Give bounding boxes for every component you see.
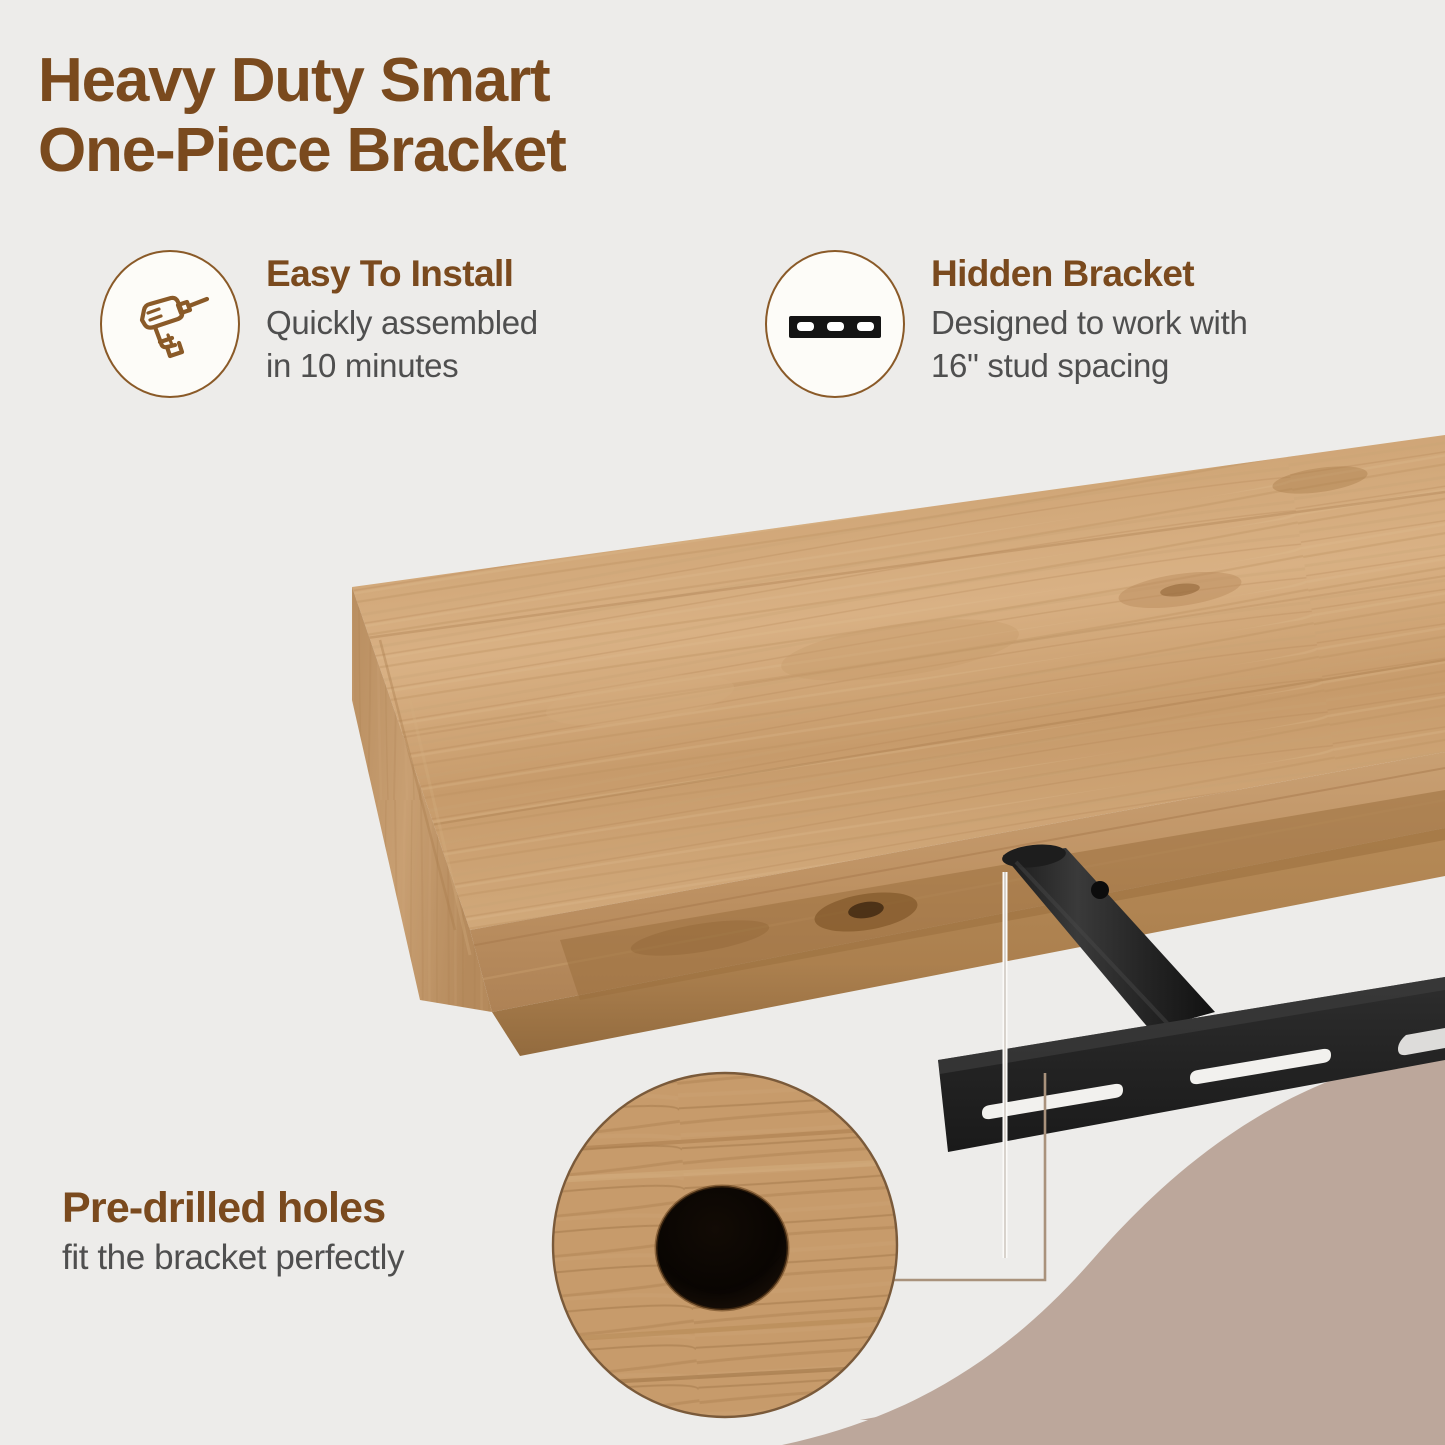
- pre-drilled-holes-caption: Pre-drilled holes fit the bracket perfec…: [62, 1186, 582, 1278]
- feature-text-block: Hidden Bracket Designed to work with 16"…: [931, 250, 1248, 388]
- infographic-canvas: Heavy Duty Smart One-Piece Bracket: [0, 0, 1445, 1445]
- bracket-bar-icon: [783, 272, 887, 376]
- headline-line-1: Heavy Duty Smart: [38, 46, 549, 115]
- feature-description: Quickly assembled in 10 minutes: [266, 302, 538, 388]
- headline-line-2: One-Piece Bracket: [38, 116, 858, 186]
- drill-icon-badge: [100, 250, 240, 398]
- drill-icon: [124, 278, 216, 370]
- pre-drilled-hole-closeup: [553, 1073, 897, 1417]
- floating-wood-shelf: [300, 400, 1445, 1056]
- feature-hidden-bracket: Hidden Bracket Designed to work with 16"…: [765, 250, 1405, 398]
- feature-desc-line-2: in 10 minutes: [266, 345, 538, 388]
- bracket-bar-icon-badge: [765, 250, 905, 398]
- feature-desc-line-2: 16" stud spacing: [931, 345, 1248, 388]
- feature-desc-line-1: Quickly assembled: [266, 302, 538, 345]
- page-title: Heavy Duty Smart One-Piece Bracket: [38, 46, 858, 186]
- caption-title: Pre-drilled holes: [62, 1186, 582, 1231]
- feature-title: Hidden Bracket: [931, 254, 1248, 293]
- feature-text-block: Easy To Install Quickly assembled in 10 …: [266, 250, 538, 388]
- feature-desc-line-1: Designed to work with: [931, 302, 1248, 345]
- feature-easy-to-install: Easy To Install Quickly assembled in 10 …: [100, 250, 700, 398]
- caption-subtitle: fit the bracket perfectly: [62, 1239, 582, 1278]
- feature-title: Easy To Install: [266, 254, 538, 293]
- feature-description: Designed to work with 16" stud spacing: [931, 302, 1248, 388]
